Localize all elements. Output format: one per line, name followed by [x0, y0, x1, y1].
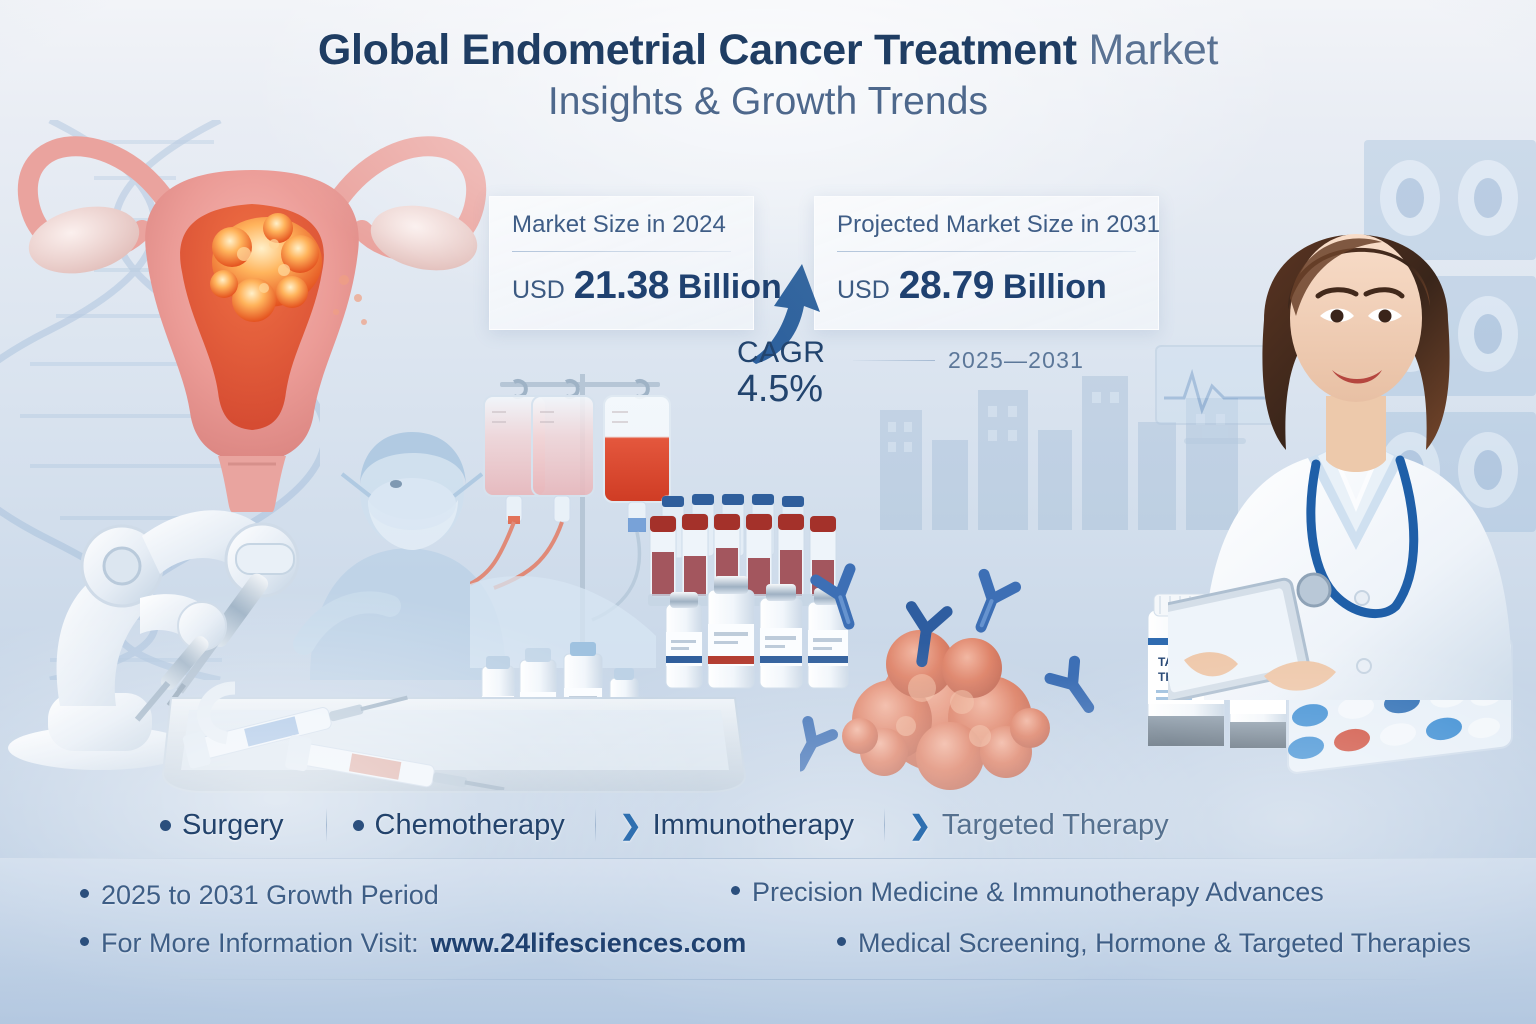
footer-text: Precision Medicine & Immunotherapy Advan…: [752, 877, 1324, 908]
website-link[interactable]: www.24lifesciences.com: [431, 928, 747, 959]
stat-value-2031: 28.79: [899, 264, 994, 308]
footer-bottom-rule: [180, 979, 1416, 980]
category-divider: [595, 808, 596, 842]
category-label: Targeted Therapy: [942, 809, 1169, 842]
bullet-dot-icon: [160, 820, 171, 831]
category-label: Immunotherapy: [653, 809, 855, 842]
footer-text: Medical Screening, Hormone & Targeted Th…: [858, 928, 1471, 959]
bullet-dot-icon: [80, 889, 89, 898]
header: Global Endometrial Cancer Treatment Mark…: [0, 26, 1536, 124]
stat-card-projected-2031: Projected Market Size in 2031 USD 28.79 …: [814, 196, 1159, 330]
stat-divider: [837, 251, 1136, 252]
chevron-right-icon: ❯: [620, 812, 642, 838]
footer-item-growth-period: 2025 to 2031 Growth Period: [80, 880, 439, 911]
bullet-dot-icon: [353, 820, 364, 831]
footer-item-screening-therapies: Medical Screening, Hormone & Targeted Th…: [837, 928, 1471, 959]
footer-text: For More Information Visit:: [101, 928, 419, 959]
stat-value-2024: 21.38: [574, 264, 669, 308]
footer-item-website[interactable]: For More Information Visit: www.24lifesc…: [80, 928, 746, 959]
stat-divider: [512, 251, 731, 252]
forecast-period: 2025—2031: [948, 347, 1084, 374]
footer-text: 2025 to 2031 Growth Period: [101, 880, 439, 911]
category-divider: [884, 808, 885, 842]
category-surgery[interactable]: Surgery: [160, 809, 284, 842]
period-rule: [853, 360, 935, 361]
stat-unit-2031: Billion: [1003, 268, 1107, 307]
cagr-value: 4.5%: [737, 368, 825, 411]
infographic-canvas: TAGGETED THEAAPY TIGEEEP THAIEEB: [0, 0, 1536, 1024]
stat-currency-2024: USD: [512, 276, 565, 305]
page-subtitle: Insights & Growth Trends: [0, 80, 1536, 124]
category-targeted-therapy[interactable]: ❯ Targeted Therapy: [909, 809, 1169, 842]
category-label: Surgery: [182, 809, 284, 842]
cagr-label: CAGR: [737, 338, 825, 368]
category-immunotherapy[interactable]: ❯ Immunotherapy: [620, 809, 854, 842]
category-divider: [326, 808, 327, 842]
stat-label-2024: Market Size in 2024: [512, 211, 731, 239]
category-label: Chemotherapy: [375, 809, 565, 842]
footer-top-rule: [0, 858, 1536, 859]
title-strong: Global Endometrial Cancer Treatment: [318, 26, 1077, 74]
stat-card-market-size-2024: Market Size in 2024 USD 21.38 Billion: [489, 196, 754, 330]
category-chemotherapy[interactable]: Chemotherapy: [353, 809, 565, 842]
stat-label-2031: Projected Market Size in 2031: [837, 211, 1136, 239]
bullet-dot-icon: [837, 937, 846, 946]
page-title: Global Endometrial Cancer Treatment Mark…: [0, 26, 1536, 74]
chevron-right-icon: ❯: [909, 812, 931, 838]
footer-item-precision-medicine: Precision Medicine & Immunotherapy Advan…: [731, 877, 1324, 908]
title-light: Market: [1077, 26, 1218, 74]
treatment-category-strip: Surgery Chemotherapy ❯ Immunotherapy ❯ T…: [0, 801, 1536, 849]
bullet-dot-icon: [731, 886, 740, 895]
cagr-block: CAGR 4.5%: [737, 338, 825, 411]
bullet-dot-icon: [80, 937, 89, 946]
